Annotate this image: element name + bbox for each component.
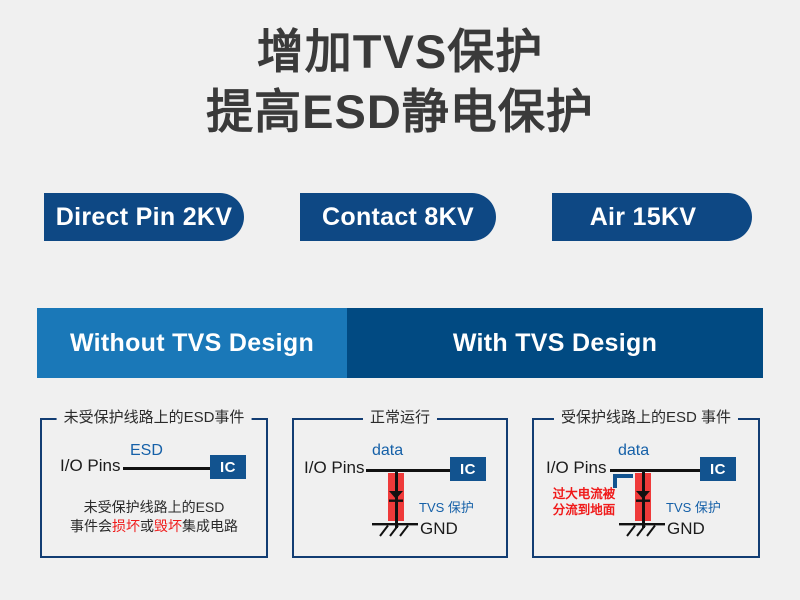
page-title-line-2: 提高ESD静电保护 [0,82,800,142]
panel-protected-esd: 受保护线路上的ESD 事件 I/O Pins data IC [532,418,760,558]
compare-without-tvs-label: Without TVS Design [70,329,314,358]
ic-box-label: IC [460,461,476,478]
unprotected-note-highlight-2: 毁坏 [154,518,182,534]
io-pins-label: I/O Pins [60,456,120,476]
ic-box: IC [210,455,246,479]
tvs-protection-label: TVS 保护 [666,497,721,516]
esd-signal-label: ESD [130,442,163,460]
overcurrent-warning-line-2: 分流到地面 [540,502,628,518]
panel-normal-operation: 正常运行 I/O Pins data IC TVS 保护 [292,418,508,558]
data-signal-label: data [618,442,649,460]
tvs-protection-label: TVS 保护 [419,497,474,516]
unprotected-note-part-c: 集成电路 [182,518,238,534]
unprotected-note: 未受保护线路上的ESD 事件会损坏或毁坏集成电路 [42,498,266,536]
unprotected-note-part-a: 事件会 [70,518,112,534]
panel-unprotected-esd-body: I/O Pins ESD IC 未受保护线路上的ESD 事件会损坏或毁坏集成电路 [42,420,266,556]
zener-diode-icon [386,488,406,506]
badge-direct-pin-label: Direct Pin 2KV [56,203,232,232]
badge-air-label: Air 15KV [590,203,697,232]
unprotected-note-highlight-1: 损坏 [112,518,140,534]
panel-unprotected-esd: 未受保护线路上的ESD事件 I/O Pins ESD IC 未受保护线路上的ES… [40,418,268,558]
spec-badge-row: Direct Pin 2KV Contact 8KV Air 15KV [0,193,800,243]
signal-wire [123,467,215,470]
zener-diode-icon [633,488,653,506]
ground-icon [372,523,418,539]
badge-contact[interactable]: Contact 8KV [300,193,496,241]
ic-box-label: IC [220,459,236,476]
page-title: 增加TVS保护 提高ESD静电保护 [0,22,800,142]
signal-wire [366,469,454,472]
ic-box: IC [450,457,486,481]
ic-box: IC [700,457,736,481]
diagram-panel-row: 未受保护线路上的ESD事件 I/O Pins ESD IC 未受保护线路上的ES… [0,418,800,563]
comparison-bar: Without TVS Design With TVS Design [37,308,763,378]
badge-contact-label: Contact 8KV [322,203,474,232]
unprotected-note-part-b: 或 [140,518,154,534]
page-title-line-1: 增加TVS保护 [0,22,800,82]
badge-direct-pin[interactable]: Direct Pin 2KV [44,193,244,241]
badge-air[interactable]: Air 15KV [552,193,752,241]
unprotected-note-line-1: 未受保护线路上的ESD [42,498,266,517]
io-pins-label: I/O Pins [546,458,606,478]
ground-icon [619,523,665,539]
panel-normal-operation-body: I/O Pins data IC TVS 保护 GND [294,420,506,556]
compare-with-tvs-label: With TVS Design [453,329,657,358]
overcurrent-warning: 过大电流被 分流到地面 [540,486,628,518]
overcurrent-warning-line-1: 过大电流被 [540,486,628,502]
compare-without-tvs[interactable]: Without TVS Design [37,308,347,378]
ic-box-label: IC [710,461,726,478]
panel-protected-esd-body: I/O Pins data IC [534,420,758,556]
unprotected-note-line-2: 事件会损坏或毁坏集成电路 [42,517,266,536]
io-pins-label: I/O Pins [304,458,364,478]
gnd-label: GND [667,519,705,539]
gnd-label: GND [420,519,458,539]
compare-with-tvs[interactable]: With TVS Design [347,308,763,378]
data-signal-label: data [372,442,403,460]
